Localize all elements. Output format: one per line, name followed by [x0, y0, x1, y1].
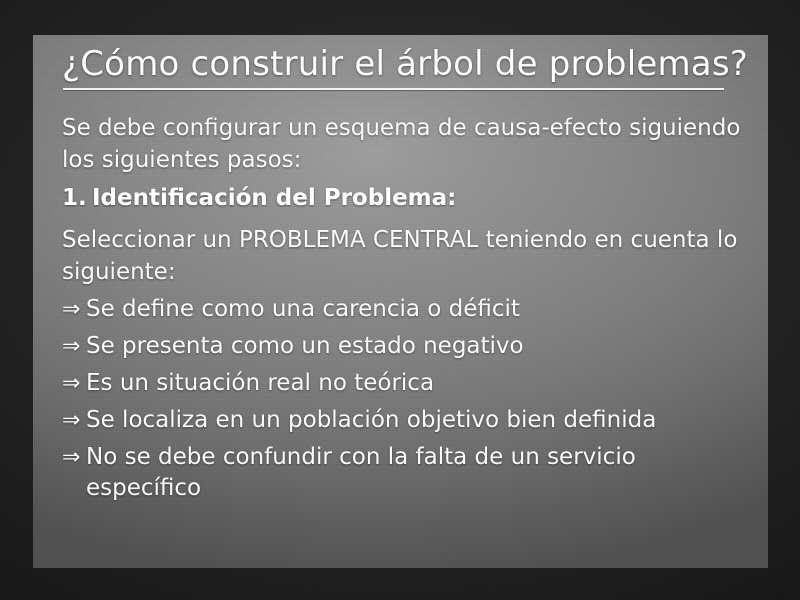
double-arrow-icon: ⇒	[62, 294, 86, 325]
double-arrow-icon: ⇒	[62, 442, 86, 473]
list-item-label: Se localiza en un población objetivo bie…	[86, 405, 752, 436]
list-item: ⇒ Se presenta como un estado negativo	[62, 331, 752, 362]
double-arrow-icon: ⇒	[62, 368, 86, 399]
double-arrow-icon: ⇒	[62, 331, 86, 362]
intro-paragraph: Se debe configurar un esquema de causa-e…	[62, 112, 752, 176]
list-item-label: Es un situación real no teórica	[86, 368, 752, 399]
numbered-item-number: 1.	[62, 182, 92, 214]
numbered-item-label: Identificación del Problema:	[92, 182, 456, 214]
subintro-paragraph: Seleccionar un PROBLEMA CENTRAL teniendo…	[62, 224, 752, 288]
slide-content: ¿Cómo construir el árbol de problemas? S…	[0, 0, 800, 600]
list-item: ⇒ No se debe confundir con la falta de u…	[62, 442, 752, 504]
title-underline	[63, 88, 724, 90]
list-item: ⇒ Es un situación real no teórica	[62, 368, 752, 399]
list-item-label: No se debe confundir con la falta de un …	[86, 442, 752, 504]
presentation-slide: ¿Cómo construir el árbol de problemas? S…	[0, 0, 800, 600]
list-item: ⇒ Se localiza en un población objetivo b…	[62, 405, 752, 436]
list-item-label: Se presenta como un estado negativo	[86, 331, 752, 362]
page-title: ¿Cómo construir el árbol de problemas?	[62, 44, 742, 84]
numbered-item-1: 1. Identificación del Problema:	[62, 182, 752, 214]
slide-body: Se debe configurar un esquema de causa-e…	[62, 112, 752, 510]
list-item: ⇒ Se define como una carencia o déficit	[62, 294, 752, 325]
double-arrow-icon: ⇒	[62, 405, 86, 436]
list-item-label: Se define como una carencia o déficit	[86, 294, 752, 325]
